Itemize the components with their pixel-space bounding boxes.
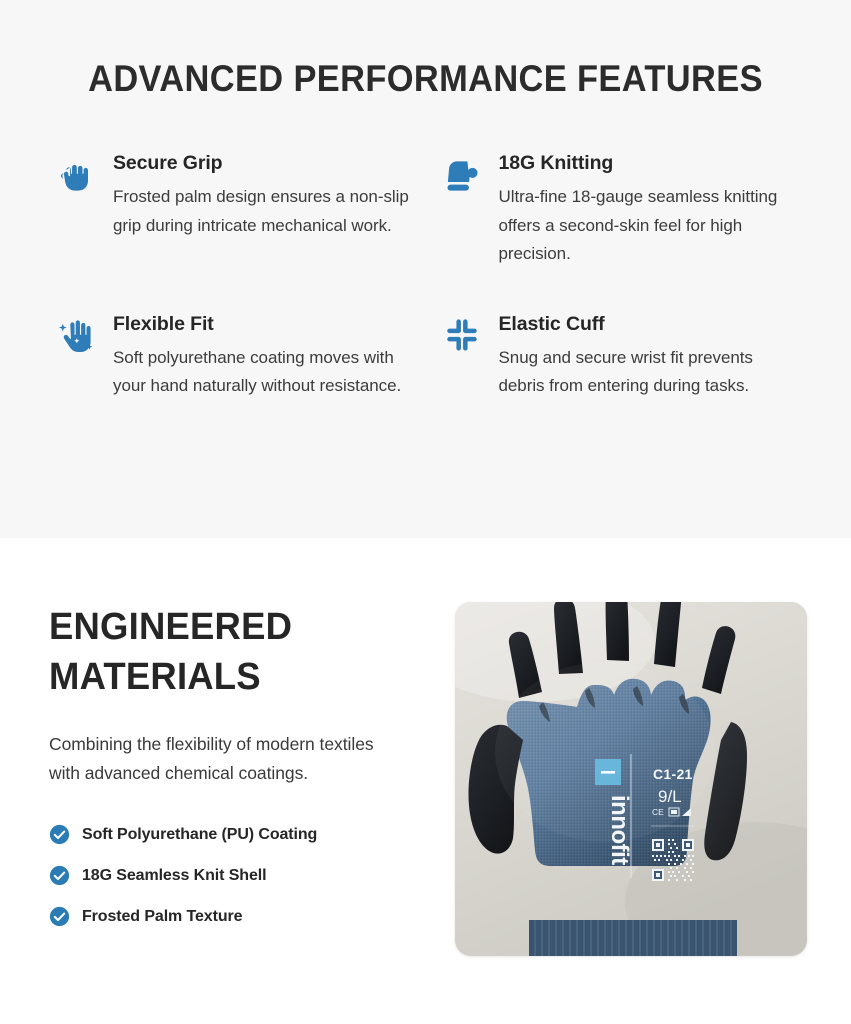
advanced-performance-features-section: ADVANCED PERFORMANCE FEATURES Secure Gri… <box>0 0 851 538</box>
feature-body: Secure Grip Frosted palm design ensures … <box>113 152 414 240</box>
feature-body: 18G Knitting Ultra-fine 18-gauge seamles… <box>499 152 800 269</box>
feature-description: Snug and secure wrist fit prevents debri… <box>499 344 800 401</box>
feature-description: Ultra-fine 18-gauge seamless knitting of… <box>499 183 800 269</box>
list-item: Soft Polyurethane (PU) Coating <box>49 824 444 845</box>
list-item: Frosted Palm Texture <box>49 906 444 927</box>
sparkle-hand-icon <box>52 313 100 365</box>
checklist-label: Soft Polyurethane (PU) Coating <box>82 826 317 844</box>
feature-item-flexible-fit: Flexible Fit Soft polyurethane coating m… <box>52 313 414 401</box>
feature-item-18g-knitting: 18G Knitting Ultra-fine 18-gauge seamles… <box>438 152 800 269</box>
product-feature-page: ADVANCED PERFORMANCE FEATURES Secure Gri… <box>0 0 851 1024</box>
feature-body: Flexible Fit Soft polyurethane coating m… <box>113 313 414 401</box>
checklist-label: 18G Seamless Knit Shell <box>82 867 266 885</box>
check-circle-icon <box>49 824 70 845</box>
mitten-icon <box>438 152 486 204</box>
feature-title: Elastic Cuff <box>499 313 800 336</box>
list-item: 18G Seamless Knit Shell <box>49 865 444 886</box>
materials-title-line-1: ENGINEERED <box>49 606 292 648</box>
materials-description: Combining the flexibility of modern text… <box>49 730 404 788</box>
engineered-materials-section: ENGINEERED MATERIALS Combining the flexi… <box>0 538 851 1024</box>
materials-title-line-2: MATERIALS <box>49 652 428 702</box>
compress-inward-icon <box>438 313 486 365</box>
feature-body: Elastic Cuff Snug and secure wrist fit p… <box>499 313 800 401</box>
materials-photo-column: innofit C1-21 9/L CE <box>444 602 807 1024</box>
page-title: ADVANCED PERFORMANCE FEATURES <box>78 58 773 100</box>
materials-text-column: ENGINEERED MATERIALS Combining the flexi… <box>46 602 444 1024</box>
checklist-label: Frosted Palm Texture <box>82 908 242 926</box>
fist-grip-icon <box>52 152 100 204</box>
feature-title: Secure Grip <box>113 152 414 175</box>
check-circle-icon <box>49 906 70 927</box>
feature-title: Flexible Fit <box>113 313 414 336</box>
materials-title: ENGINEERED MATERIALS <box>49 602 428 702</box>
glove-product-photo: innofit C1-21 9/L CE <box>455 602 807 956</box>
feature-description: Frosted palm design ensures a non-slip g… <box>113 183 414 240</box>
materials-checklist: Soft Polyurethane (PU) Coating 18G Seaml… <box>49 824 444 927</box>
check-circle-icon <box>49 865 70 886</box>
feature-item-secure-grip: Secure Grip Frosted palm design ensures … <box>52 152 414 269</box>
feature-grid: Secure Grip Frosted palm design ensures … <box>52 152 799 401</box>
feature-description: Soft polyurethane coating moves with you… <box>113 344 414 401</box>
feature-title: 18G Knitting <box>499 152 800 175</box>
feature-item-elastic-cuff: Elastic Cuff Snug and secure wrist fit p… <box>438 313 800 401</box>
